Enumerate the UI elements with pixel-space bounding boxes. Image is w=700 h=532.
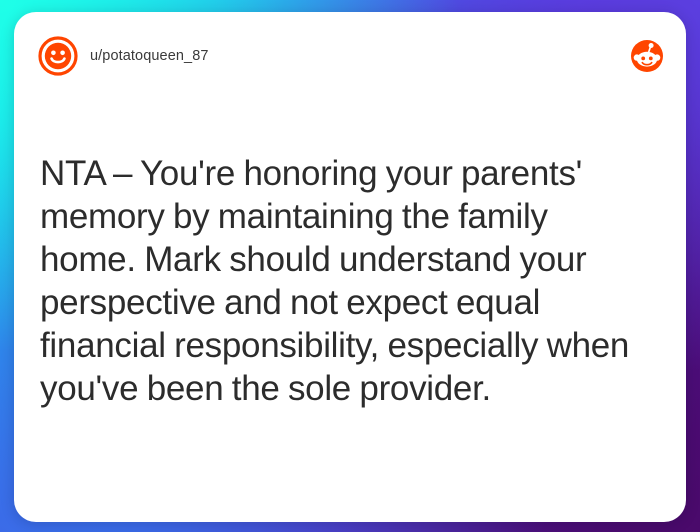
author-username: u/potatoqueen_87 (90, 48, 209, 64)
smiley-face-avatar-icon (38, 36, 78, 76)
author-block[interactable]: u/potatoqueen_87 (38, 36, 630, 76)
reddit-snoo-logo-icon[interactable] (630, 39, 664, 73)
card-header: u/potatoqueen_87 (14, 12, 686, 100)
reddit-comment-card: u/potatoqueen_87 (14, 12, 686, 522)
comment-text: NTA – You're honoring your parents' memo… (40, 152, 640, 410)
screenshot-canvas: u/potatoqueen_87 (0, 0, 700, 532)
card-body: NTA – You're honoring your parents' memo… (40, 152, 640, 410)
